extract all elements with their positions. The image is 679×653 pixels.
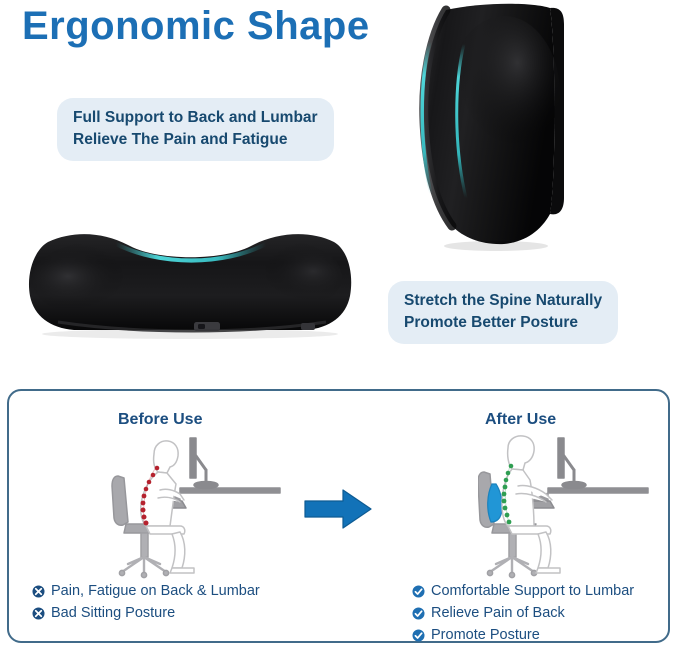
callout-left-line2: Relieve The Pain and Fatigue (73, 129, 318, 151)
list-item-label: Relieve Pain of Back (431, 602, 565, 624)
list-item-label: Promote Posture (431, 624, 540, 646)
list-item: Comfortable Support to Lumbar (412, 580, 634, 602)
list-item-label: Pain, Fatigue on Back & Lumbar (51, 580, 260, 602)
right-arrow-icon (303, 487, 373, 531)
x-circle-icon (32, 607, 45, 620)
after-use-list: Comfortable Support to Lumbar Relieve Pa… (412, 580, 634, 646)
product-image-back-cushion (404, 2, 644, 252)
callout-left: Full Support to Back and Lumbar Relieve … (57, 98, 334, 161)
illustration-before-use (110, 432, 300, 580)
list-item-label: Bad Sitting Posture (51, 602, 175, 624)
callout-right: Stretch the Spine Naturally Promote Bett… (388, 281, 618, 344)
callout-right-line1: Stretch the Spine Naturally (404, 290, 602, 312)
callout-left-line1: Full Support to Back and Lumbar (73, 107, 318, 129)
list-item: Pain, Fatigue on Back & Lumbar (32, 580, 260, 602)
before-use-list: Pain, Fatigue on Back & Lumbar Bad Sitti… (32, 580, 260, 624)
list-item: Relieve Pain of Back (412, 602, 634, 624)
list-item: Promote Posture (412, 624, 634, 646)
list-item: Bad Sitting Posture (32, 602, 260, 624)
callout-right-line2: Promote Better Posture (404, 312, 602, 334)
check-circle-icon (412, 607, 425, 620)
check-circle-icon (412, 585, 425, 598)
product-image-seat-cushion (18, 222, 363, 347)
illustration-after-use (478, 432, 668, 580)
page-title: Ergonomic Shape (22, 0, 370, 52)
heading-before-use: Before Use (118, 411, 202, 429)
heading-after-use: After Use (485, 411, 556, 429)
check-circle-icon (412, 629, 425, 642)
x-circle-icon (32, 585, 45, 598)
list-item-label: Comfortable Support to Lumbar (431, 580, 634, 602)
